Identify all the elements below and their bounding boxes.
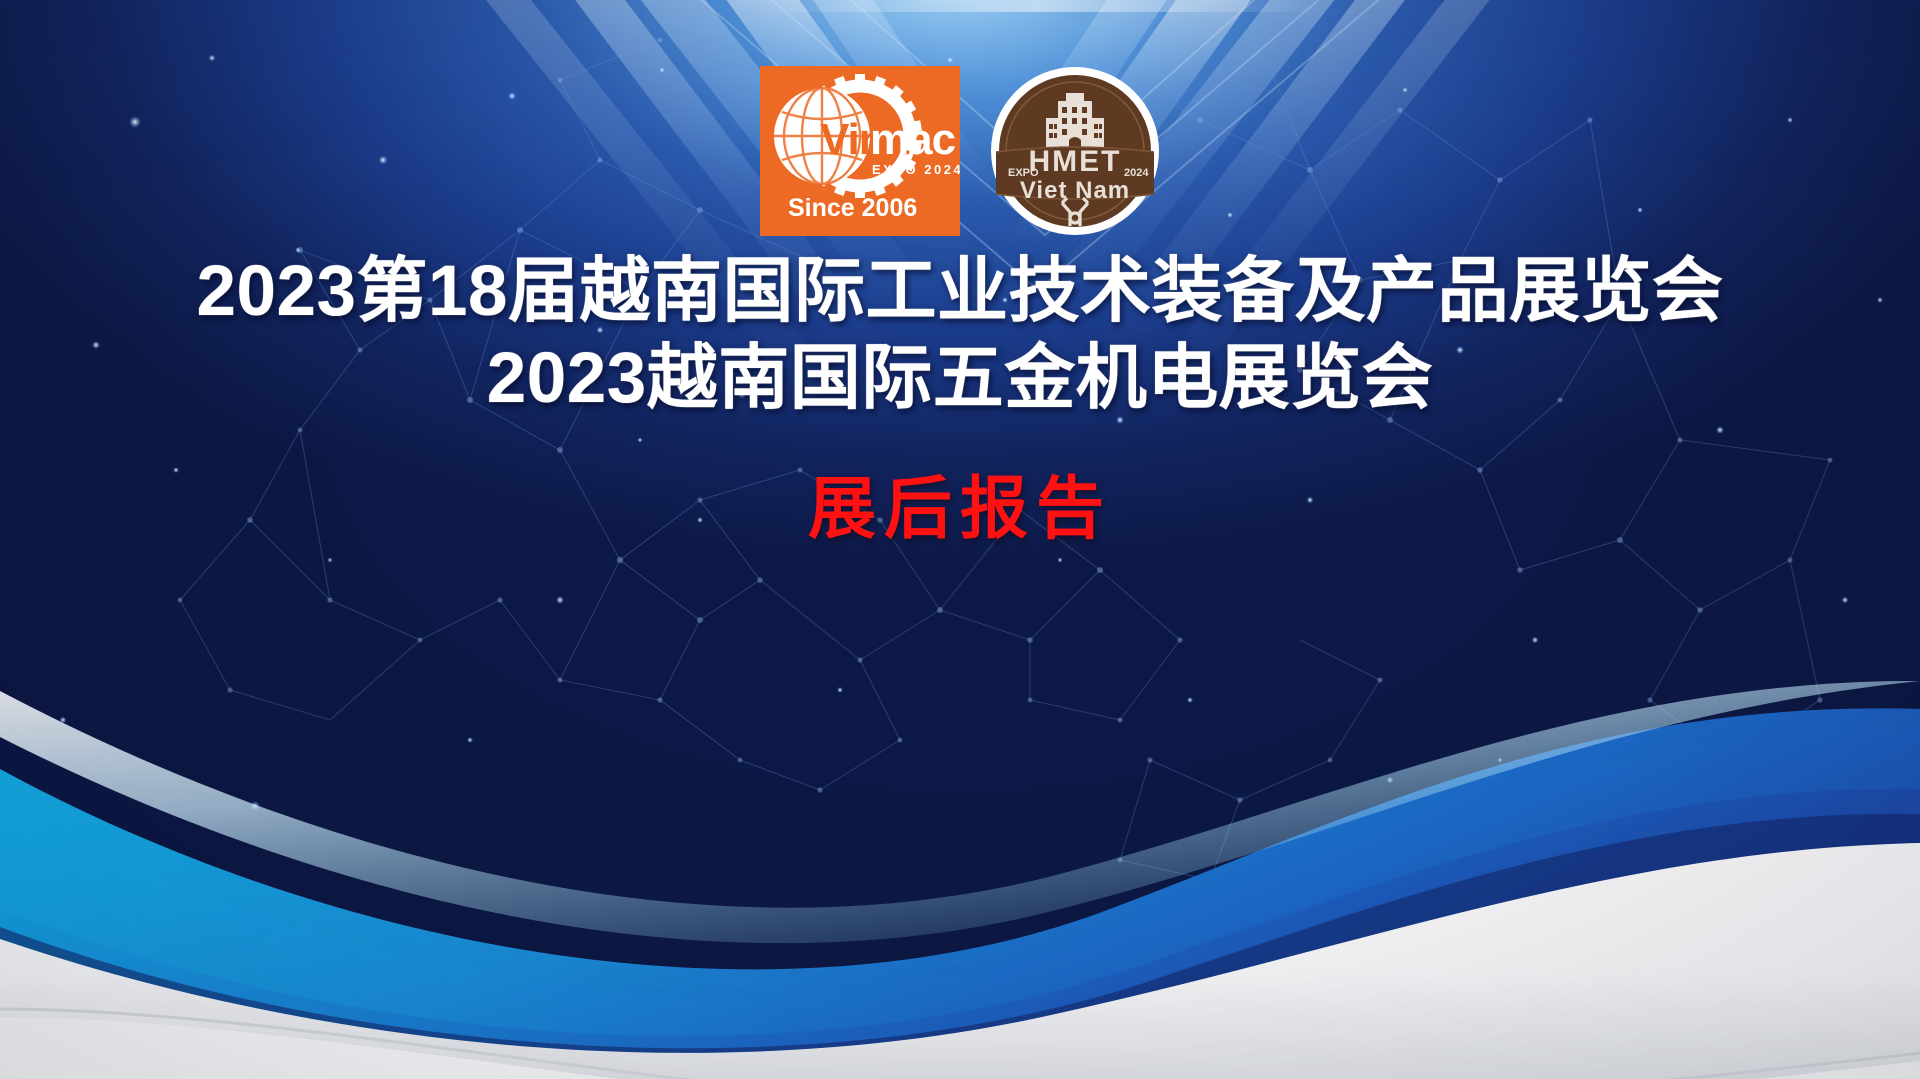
report-subtitle: 展后报告 (0, 472, 1920, 547)
title-block: 2023第18届越南国际工业技术装备及产品展览会 2023越南国际五金机电展览会… (0, 252, 1920, 547)
slide-root: Vina mac EXPO 2024 Since 2006 Vinamac EX… (0, 0, 1920, 1079)
logo-row: Vina mac EXPO 2024 Since 2006 Vinamac EX… (0, 66, 1920, 236)
hmet-country-text: Viet Nam (1160, 66, 1161, 67)
svg-text:HMET: HMET (1029, 145, 1122, 178)
hmet-logo-art: HMET Viet Nam EXPO 2024 (990, 66, 1160, 236)
hmet-year-label: 2024 (1160, 66, 1161, 67)
main-title-line-2: 2023越南国际五金机电展览会 (0, 339, 1920, 420)
hmet-logo[interactable]: HMET Viet Nam EXPO 2024 HMET Viet Nam EX… (990, 66, 1160, 236)
svg-text:EXPO: EXPO (1008, 167, 1039, 179)
hmet-title-text: HMET (1160, 66, 1161, 67)
svg-text:Viet Nam: Viet Nam (1020, 177, 1130, 204)
svg-text:2024: 2024 (1124, 167, 1149, 179)
svg-text:EXPO 2024: EXPO 2024 (872, 162, 960, 177)
hmet-expo-label: EXPO (1160, 66, 1161, 67)
vinamac-logo[interactable]: Vina mac EXPO 2024 Since 2006 Vinamac EX… (760, 66, 960, 236)
svg-text:Since 2006: Since 2006 (788, 194, 917, 222)
vinamac-logo-art: Vina mac EXPO 2024 Since 2006 (760, 66, 960, 236)
svg-text:mac: mac (870, 115, 956, 164)
main-title-line-1: 2023第18届越南国际工业技术装备及产品展览会 (0, 252, 1920, 333)
